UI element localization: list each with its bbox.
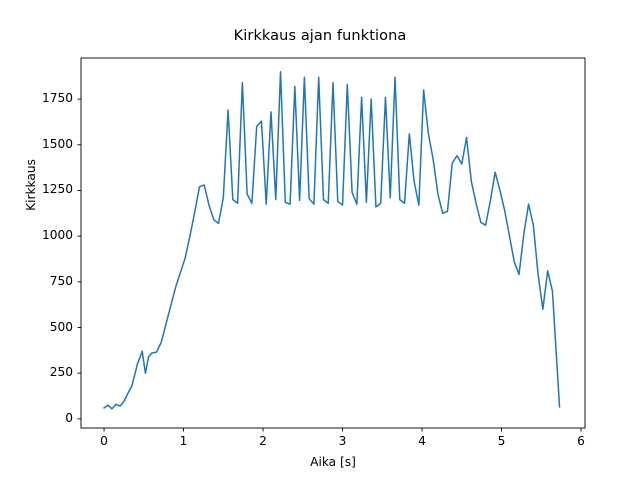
y-tick-label: 500 — [23, 320, 73, 334]
y-tick-label: 1750 — [23, 91, 73, 105]
y-tick-label: 250 — [23, 365, 73, 379]
x-tick-label: 5 — [487, 434, 517, 448]
y-tick-label: 750 — [23, 274, 73, 288]
y-tick-label: 1500 — [23, 137, 73, 151]
x-tick-label: 0 — [89, 434, 119, 448]
y-tick-label: 1000 — [23, 228, 73, 242]
plot-canvas — [0, 0, 640, 480]
x-tick-label: 2 — [248, 434, 278, 448]
x-tick-label: 1 — [169, 434, 199, 448]
axes-background — [81, 58, 585, 428]
x-tick-label: 3 — [328, 434, 358, 448]
x-tick-label: 4 — [407, 434, 437, 448]
x-tick-label: 6 — [566, 434, 596, 448]
chart-figure: Kirkkaus ajan funktiona Kirkkaus Aika [s… — [0, 0, 640, 480]
y-tick-label: 1250 — [23, 182, 73, 196]
y-tick-label: 0 — [23, 411, 73, 425]
